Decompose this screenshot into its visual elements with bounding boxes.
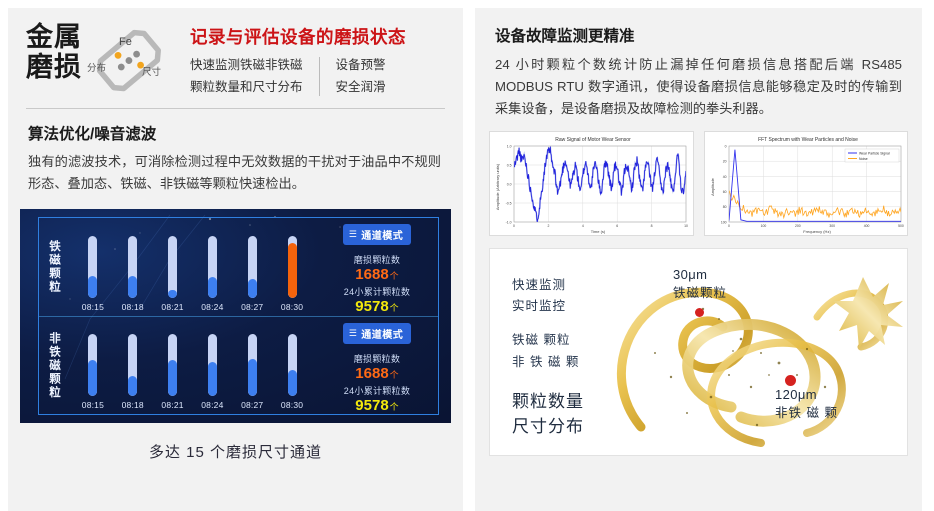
chart-fft-spectrum: FFT Spectrum with Wear Particles and Noi… <box>704 131 909 236</box>
chart1-ylabel: Amplitude (Arbitrary units) <box>495 163 500 210</box>
annotation-ferrous-30um: 30μm 铁磁颗粒 <box>673 267 727 301</box>
bar-fill <box>128 276 137 298</box>
chart-raw-signal: Raw Signal of Motor Wear Sensor Amplitud… <box>489 131 694 236</box>
bar-track <box>288 334 297 396</box>
feature-body: 独有的滤波技术，可消除检测过程中无效数据的干扰对于油品中不规则形态、叠加态、铁磁… <box>28 151 441 195</box>
total-count-unit: 个 <box>390 303 399 313</box>
svg-text:Noise: Noise <box>859 157 868 161</box>
bar-fill <box>208 362 217 396</box>
stats-non-ferrous: ☰ 通道模式 磨损颗粒数 1688个 24小累计颗粒数 9578个 <box>320 317 438 414</box>
bar-track <box>288 236 297 298</box>
particle-marker-120um <box>785 375 796 386</box>
svg-text:6: 6 <box>616 224 618 228</box>
svg-text:Wear Particle Signal: Wear Particle Signal <box>859 151 890 155</box>
header-left-line-2: 颗粒数量和尺寸分布 <box>190 77 303 99</box>
header-right-line-2: 安全润滑 <box>336 77 386 99</box>
wear-count-label: 磨损颗粒数 <box>320 352 434 365</box>
svg-text:0.0: 0.0 <box>507 182 512 186</box>
bar-fill <box>248 359 257 396</box>
header-columns: 快速监测铁磁非铁磁 颗粒数量和尺寸分布 设备预警 安全润滑 <box>190 55 406 98</box>
svg-text:8: 8 <box>651 224 653 228</box>
left-panel: 金属 磨损 <box>8 8 463 511</box>
bar-time-label: 08:27 <box>241 302 263 312</box>
oil-particle-card: 快速监测 实时监控 铁磁 颗粒 非 铁 磁 颗 颗粒数量 尺寸分布 30μm 铁… <box>489 248 908 456</box>
right-panel-body: 24 小时颗粒个数统计防止漏掉任何磨损信息搭配后端 RS485 MODBUS R… <box>495 54 902 121</box>
channel-icon: ☰ <box>349 229 358 240</box>
bar-time-label: 08:18 <box>122 400 144 410</box>
bar-track <box>168 236 177 298</box>
oil-swirl-illustration <box>611 257 908 453</box>
oil-big-line-2: 尺寸分布 <box>512 415 584 440</box>
svg-text:20: 20 <box>722 159 726 163</box>
total-count-label: 24小累计颗粒数 <box>320 285 434 298</box>
chart1-title: Raw Signal of Motor Wear Sensor <box>555 137 631 143</box>
feature-title: 算法优化/噪音滤波 <box>28 122 441 144</box>
svg-text:500: 500 <box>898 224 904 228</box>
oil-line-2: 实时监控 <box>512 296 584 318</box>
brand-line-1: 金属 <box>26 22 82 52</box>
bar-time-label: 08:21 <box>161 302 183 312</box>
svg-text:2: 2 <box>547 224 549 228</box>
header-text-block: 记录与评估设备的磨损状态 快速监测铁磁非铁磁 颗粒数量和尺寸分布 设备预警 安全… <box>190 22 406 98</box>
bar-item[interactable]: 08:30 <box>273 334 311 410</box>
page-title: 记录与评估设备的磨损状态 <box>190 24 406 49</box>
wear-count-unit: 个 <box>390 370 399 380</box>
metal-wear-sensor-icon: Fe 分布 尺寸 <box>86 22 178 94</box>
wear-count-label: 磨损颗粒数 <box>320 253 434 266</box>
brand-line-2: 磨损 <box>26 52 82 82</box>
bar-time-label: 08:21 <box>161 400 183 410</box>
bar-group-ferrous[interactable]: 08:15 08:18 08:21 08:24 <box>69 218 320 316</box>
chart1-xlabel: Time (s) <box>591 229 606 234</box>
brand-row: 金属 磨损 <box>26 22 447 98</box>
bar-item-alert[interactable]: 08:30 <box>273 236 311 312</box>
wear-dashboard: 铁磁颗粒 08:15 08:18 08:21 <box>20 209 451 423</box>
right-panel: 设备故障监测更精准 24 小时颗粒个数统计防止漏掉任何磨损信息搭配后端 RS48… <box>475 8 922 511</box>
page-root: 金属 磨损 <box>0 0 934 511</box>
bar-item[interactable]: 08:21 <box>154 334 192 410</box>
oil-big-line-1: 颗粒数量 <box>512 390 584 415</box>
total-count-unit: 个 <box>390 402 399 412</box>
bar-time-label: 08:30 <box>281 400 303 410</box>
bar-track <box>88 334 97 396</box>
total-count-value: 9578个 <box>320 298 434 315</box>
left-panel-header: 金属 磨损 <box>8 8 463 98</box>
svg-text:0: 0 <box>728 224 730 228</box>
bar-track <box>248 334 257 396</box>
bar-track <box>168 334 177 396</box>
oil-text-block: 快速监测 实时监控 铁磁 颗粒 非 铁 磁 颗 颗粒数量 尺寸分布 <box>512 275 584 440</box>
channel-mode-button[interactable]: ☰ 通道模式 <box>343 224 412 245</box>
bar-time-label: 08:15 <box>82 302 104 312</box>
bar-time-label: 08:18 <box>122 302 144 312</box>
sensor-shape-svg <box>86 22 178 94</box>
bar-fill <box>248 279 257 298</box>
bar-item[interactable]: 08:24 <box>193 236 231 312</box>
bar-group-non-ferrous[interactable]: 08:15 08:18 08:21 08:24 <box>69 317 320 414</box>
svg-text:300: 300 <box>829 224 835 228</box>
bar-time-label: 08:15 <box>82 400 104 410</box>
bar-item[interactable]: 08:27 <box>233 236 271 312</box>
bar-fill <box>208 277 217 297</box>
bar-fill <box>288 370 297 396</box>
annotation-non-ferrous-120um: 120μm 非铁 磁 颗 <box>775 387 838 421</box>
channel-mode-label: 通道模式 <box>361 326 403 341</box>
particle-marker-30um <box>695 308 704 317</box>
annotation-label: 非铁 磁 颗 <box>775 402 838 421</box>
bar-fill <box>168 290 177 297</box>
svg-text:0: 0 <box>513 224 515 228</box>
wear-count-value: 1688个 <box>320 365 434 382</box>
dashboard-row-non-ferrous: 非铁磁颗粒 08:15 08:18 08:21 <box>39 316 438 414</box>
bar-item[interactable]: 08:15 <box>74 236 112 312</box>
feature-block: 算法优化/噪音滤波 独有的滤波技术，可消除检测过程中无效数据的干扰对于油品中不规… <box>8 109 463 195</box>
bar-time-label: 08:24 <box>201 302 223 312</box>
charts-row: Raw Signal of Motor Wear Sensor Amplitud… <box>475 121 922 236</box>
chart2-title: FFT Spectrum with Wear Particles and Noi… <box>758 137 858 143</box>
svg-text:200: 200 <box>794 224 800 228</box>
bar-item[interactable]: 08:21 <box>154 236 192 312</box>
chart2-legend: Wear Particle Signal Noise <box>845 149 899 162</box>
svg-text:40: 40 <box>722 174 726 178</box>
bar-time-label: 08:27 <box>241 400 263 410</box>
row-label-non-ferrous: 非铁磁颗粒 <box>39 317 69 414</box>
chart2-xlabel: Frequency (Hz) <box>803 229 831 234</box>
svg-text:100: 100 <box>760 224 766 228</box>
svg-text:60: 60 <box>722 190 726 194</box>
bar-item[interactable]: 08:24 <box>193 334 231 410</box>
bar-item[interactable]: 08:18 <box>114 236 152 312</box>
bar-fill-alert <box>288 243 297 298</box>
header-right-column: 设备预警 安全润滑 <box>336 55 386 98</box>
svg-text:0: 0 <box>724 144 726 148</box>
icon-size-label: 尺寸 <box>142 64 161 78</box>
bar-fill <box>88 276 97 298</box>
right-panel-text: 设备故障监测更精准 24 小时颗粒个数统计防止漏掉任何磨损信息搭配后端 RS48… <box>475 8 922 121</box>
header-right-line-1: 设备预警 <box>336 55 386 77</box>
fft-spectrum-svg: FFT Spectrum with Wear Particles and Noi… <box>705 132 909 235</box>
stats-ferrous: ☰ 通道模式 磨损颗粒数 1688个 24小累计颗粒数 9578个 <box>320 218 438 316</box>
annotation-label: 铁磁颗粒 <box>673 282 727 301</box>
svg-text:10: 10 <box>684 224 688 228</box>
bar-item[interactable]: 08:15 <box>74 334 112 410</box>
bar-track <box>208 334 217 396</box>
icon-distribution-label: 分布 <box>87 60 106 74</box>
header-divider <box>319 57 320 96</box>
svg-text:-0.5: -0.5 <box>506 201 512 205</box>
svg-text:-1.0: -1.0 <box>506 220 512 224</box>
channel-icon: ☰ <box>349 328 358 339</box>
bar-time-label: 08:30 <box>281 302 303 312</box>
bar-fill <box>128 376 137 396</box>
row-label-ferrous: 铁磁颗粒 <box>39 218 69 316</box>
bar-item[interactable]: 08:27 <box>233 334 271 410</box>
svg-text:80: 80 <box>722 205 726 209</box>
bar-track <box>208 236 217 298</box>
bar-track <box>248 236 257 298</box>
annotation-value: 30μm <box>673 267 727 282</box>
oil-line-1: 快速监测 <box>512 275 584 297</box>
svg-text:4: 4 <box>582 224 584 228</box>
oil-line-4: 非 铁 磁 颗 <box>512 352 584 374</box>
wear-count-unit: 个 <box>390 271 399 281</box>
annotation-value: 120μm <box>775 387 838 402</box>
channel-mode-label: 通道模式 <box>361 227 403 242</box>
right-panel-title: 设备故障监测更精准 <box>495 24 902 46</box>
bar-fill <box>168 360 177 395</box>
header-left-column: 快速监测铁磁非铁磁 颗粒数量和尺寸分布 <box>190 55 303 98</box>
bar-track <box>128 334 137 396</box>
svg-text:1.0: 1.0 <box>507 144 512 148</box>
svg-text:100: 100 <box>720 220 726 224</box>
bar-fill <box>88 360 97 396</box>
dashboard-caption: 多达 15 个磨损尺寸通道 <box>8 423 463 462</box>
header-left-line-1: 快速监测铁磁非铁磁 <box>190 55 303 77</box>
bar-time-label: 08:24 <box>201 400 223 410</box>
channel-mode-button[interactable]: ☰ 通道模式 <box>343 323 412 344</box>
chart2-ylabel: Amplitude <box>710 177 715 196</box>
total-count-value: 9578个 <box>320 397 434 414</box>
svg-text:400: 400 <box>863 224 869 228</box>
dashboard-frame: 铁磁颗粒 08:15 08:18 08:21 <box>38 217 439 415</box>
oil-line-3: 铁磁 颗粒 <box>512 330 584 352</box>
dashboard-row-ferrous: 铁磁颗粒 08:15 08:18 08:21 <box>39 218 438 316</box>
wear-count-value: 1688个 <box>320 266 434 283</box>
icon-fe-label: Fe <box>119 36 132 48</box>
bar-item[interactable]: 08:18 <box>114 334 152 410</box>
bar-track <box>88 236 97 298</box>
brand-wordmark: 金属 磨损 <box>26 22 82 82</box>
raw-signal-svg: Raw Signal of Motor Wear Sensor Amplitud… <box>490 132 694 235</box>
bar-track <box>128 236 137 298</box>
total-count-label: 24小累计颗粒数 <box>320 384 434 397</box>
svg-text:0.5: 0.5 <box>507 163 512 167</box>
